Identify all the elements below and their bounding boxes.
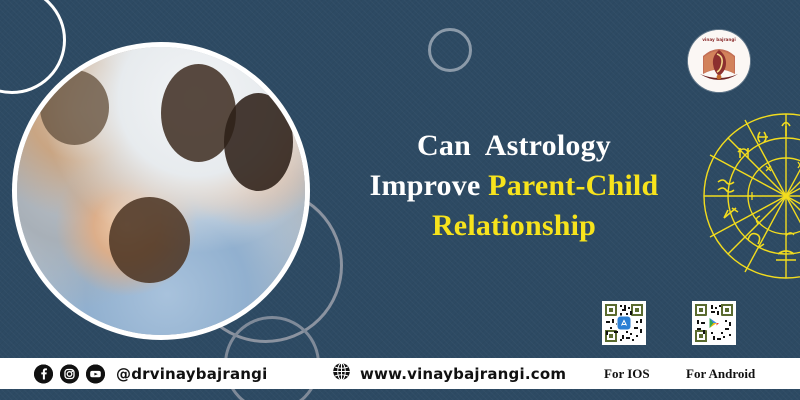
website-link[interactable]: www.vinaybajrangi.com — [332, 362, 566, 386]
footer-content: @drvinaybajrangi www.vinaybajr — [0, 358, 800, 389]
qr-android-canvas — [694, 303, 734, 343]
social-handle[interactable]: @drvinaybajrangi — [116, 365, 267, 383]
vinay-bajrangi-logo: vinay bajrangi — [688, 30, 750, 92]
qr-code-android[interactable] — [692, 301, 736, 345]
headline-line-1: Can Astrology — [328, 126, 700, 166]
headline-line-2: Improve Parent-Child — [328, 166, 700, 206]
ios-store-label: For IOS — [604, 366, 650, 382]
footer-bar: @drvinaybajrangi www.vinaybajr — [0, 358, 800, 389]
globe-icon — [332, 362, 351, 386]
android-store-label: For Android — [686, 366, 755, 382]
social-links — [34, 364, 105, 383]
qr-finder-bl — [695, 330, 707, 342]
youtube-icon[interactable] — [86, 364, 105, 383]
headline-line-2-white: Improve — [370, 169, 489, 202]
qr-finder-tl — [605, 304, 617, 316]
family-photo-image — [17, 47, 305, 335]
qr-code-ios[interactable] — [602, 301, 646, 345]
promo-banner: Can Astrology Improve Parent-Child Relat… — [0, 0, 800, 400]
photo-figure-father — [40, 70, 109, 145]
qr-finder-tr — [631, 304, 643, 316]
facebook-icon[interactable] — [34, 364, 53, 383]
qr-finder-tl — [695, 304, 707, 316]
headline: Can Astrology Improve Parent-Child Relat… — [328, 126, 700, 246]
qr-ios-canvas — [604, 303, 644, 343]
headline-line-2-yellow: Parent-Child — [488, 169, 658, 202]
instagram-icon[interactable] — [60, 364, 79, 383]
qr-finder-tr — [721, 304, 733, 316]
zodiac-wheel-icon — [702, 112, 800, 280]
svg-text:vinay bajrangi: vinay bajrangi — [702, 37, 736, 42]
google-play-icon — [707, 316, 722, 331]
photo-figure-son — [109, 197, 190, 283]
headline-line-3: Relationship — [328, 206, 700, 246]
website-url: www.vinaybajrangi.com — [360, 365, 566, 383]
decorative-ring-top-center — [428, 28, 472, 72]
family-photo — [12, 42, 310, 340]
app-store-icon — [617, 316, 632, 331]
photo-figure-daughter — [224, 93, 293, 191]
